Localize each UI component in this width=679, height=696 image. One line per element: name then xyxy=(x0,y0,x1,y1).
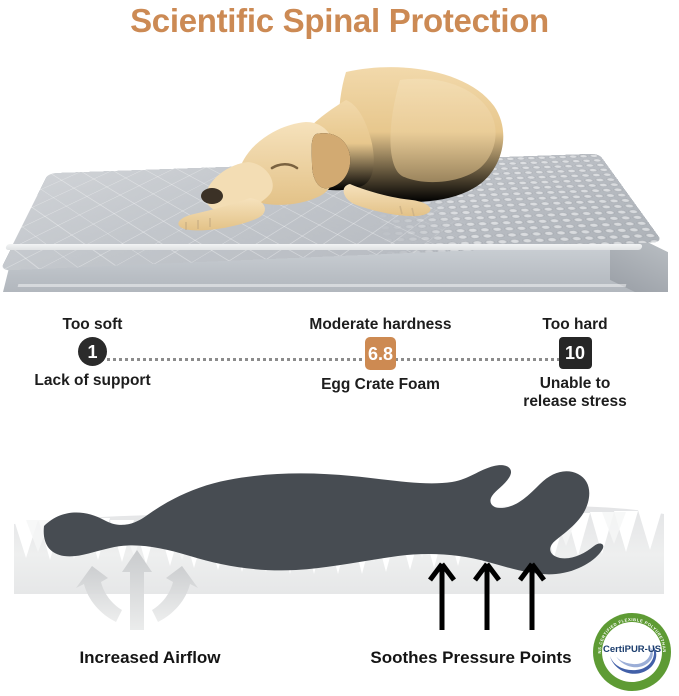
hero-product-photo xyxy=(0,52,679,292)
scale-stop-sublabel-line1: Unable to xyxy=(500,375,650,393)
caption-increased-airflow: Increased Airflow xyxy=(40,648,260,668)
scale-stop-too-soft: Too soft 1 Lack of support xyxy=(10,316,175,390)
bed-piping-trim xyxy=(5,244,642,250)
hardness-scale: Too soft 1 Lack of support Moderate hard… xyxy=(0,316,679,416)
certipur-us-badge: CertiPUR-US CONTAINS CERTIFIED FLEXIBLE … xyxy=(592,612,672,692)
scale-marker-6-8: 6.8 xyxy=(365,337,396,370)
scale-stop-sublabel: Lack of support xyxy=(10,372,175,390)
scale-stop-sublabel: Egg Crate Foam xyxy=(293,376,468,394)
labrador-dog-photo xyxy=(150,64,510,239)
scale-stop-sublabel-line2: release stress xyxy=(500,393,650,411)
caption-soothes-pressure-points: Soothes Pressure Points xyxy=(355,648,587,668)
scale-stop-caption: Too hard xyxy=(500,316,650,333)
page-title: Scientific Spinal Protection xyxy=(0,2,679,40)
scale-marker-10: 10 xyxy=(559,337,592,369)
pressure-arrows xyxy=(430,564,544,630)
scale-marker-1: 1 xyxy=(78,337,107,366)
scale-stop-caption: Too soft xyxy=(10,316,175,333)
scale-stop-moderate-hardness: Moderate hardness 6.8 Egg Crate Foam xyxy=(293,316,468,394)
scale-stop-caption: Moderate hardness xyxy=(293,316,468,333)
infographic-page: Scientific Spinal Protection xyxy=(0,0,679,696)
badge-main-text: CertiPUR-US xyxy=(603,644,661,655)
scale-stop-too-hard: Too hard 10 Unable to release stress xyxy=(500,316,650,411)
foam-cross-section-diagram xyxy=(0,424,679,634)
bed-seam-line xyxy=(18,284,627,287)
